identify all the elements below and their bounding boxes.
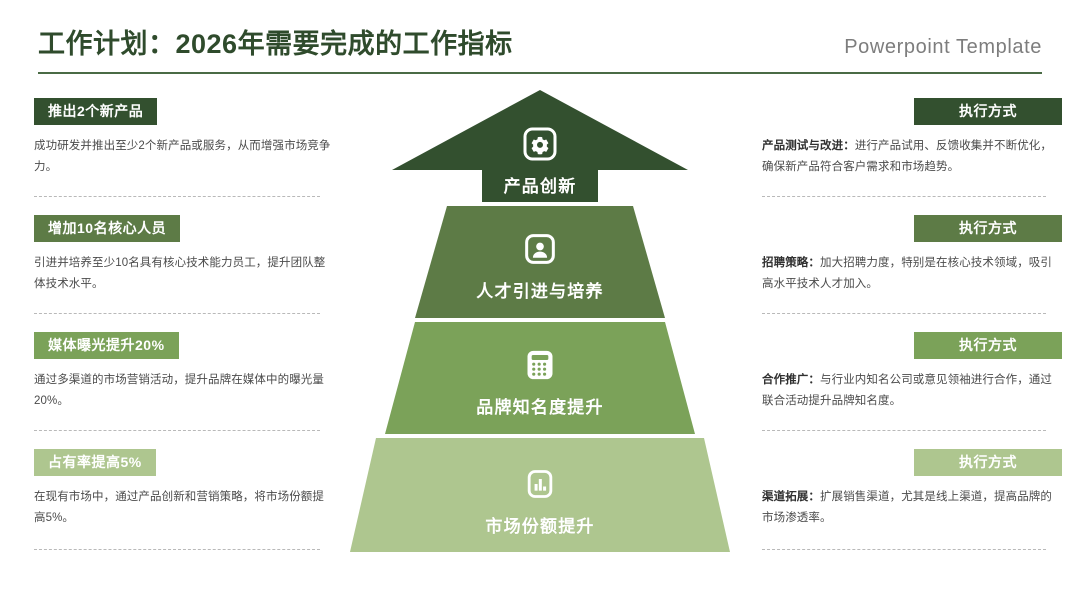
- pyramid-tier-4[interactable]: 市场份额提升: [350, 438, 730, 552]
- calculator-icon: [520, 345, 560, 385]
- pyramid-tier-2[interactable]: 人才引进与培养: [415, 206, 665, 318]
- pyramid-tier-3[interactable]: 品牌知名度提升: [385, 322, 695, 434]
- template-label: Powerpoint Template: [844, 36, 1042, 59]
- header-divider: [38, 72, 1042, 74]
- pyramid-tier-1[interactable]: 产品创新: [390, 88, 690, 202]
- bar-chart-icon: [520, 464, 560, 504]
- tier-label-2: 人才引进与培养: [476, 277, 603, 302]
- tier-label-1: 产品创新: [504, 172, 577, 197]
- tier-label-3: 品牌知名度提升: [476, 393, 603, 418]
- gear-icon: [520, 124, 560, 164]
- page-title: 工作计划：2026年需要完成的工作指标: [38, 22, 513, 61]
- slide-header: 工作计划：2026年需要完成的工作指标 Powerpoint Template: [0, 0, 1080, 78]
- pyramid-diagram: 产品创新 人才引进与培养: [0, 86, 1080, 608]
- tier-label-4: 市场份额提升: [485, 512, 594, 537]
- person-card-icon: [520, 229, 560, 269]
